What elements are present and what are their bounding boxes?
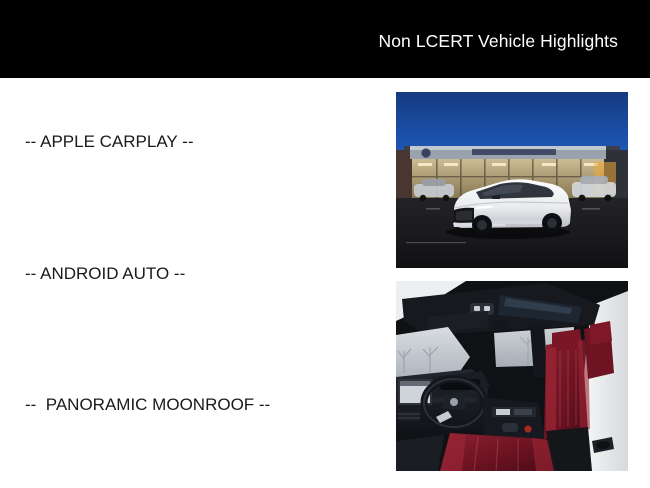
vehicle-exterior-photo — [396, 92, 628, 268]
highlight-text: -- ANDROID AUTO -- — [25, 263, 384, 285]
highlights-list: -- APPLE CARPLAY -- -- ANDROID AUTO -- -… — [0, 88, 388, 488]
highlight-text: -- PANORAMIC MOONROOF -- — [25, 394, 384, 416]
list-item: -- ANDROID AUTO -- — [0, 220, 388, 328]
highlight-text: -- APPLE CARPLAY -- — [25, 131, 384, 153]
list-item: -- PANORAMIC MOONROOF -- — [0, 351, 388, 459]
highlights-column: -- APPLE CARPLAY -- -- ANDROID AUTO -- -… — [0, 78, 388, 488]
vehicle-interior-photo — [396, 281, 628, 471]
page-title: Non LCERT Vehicle Highlights — [378, 30, 618, 52]
slide-root: Non LCERT Vehicle Highlights -- APPLE CA… — [0, 0, 650, 488]
list-item: -- NAVIGATION SYSTEM -- — [0, 483, 388, 488]
header-band: Non LCERT Vehicle Highlights — [0, 0, 650, 78]
list-item: -- APPLE CARPLAY -- — [0, 88, 388, 196]
